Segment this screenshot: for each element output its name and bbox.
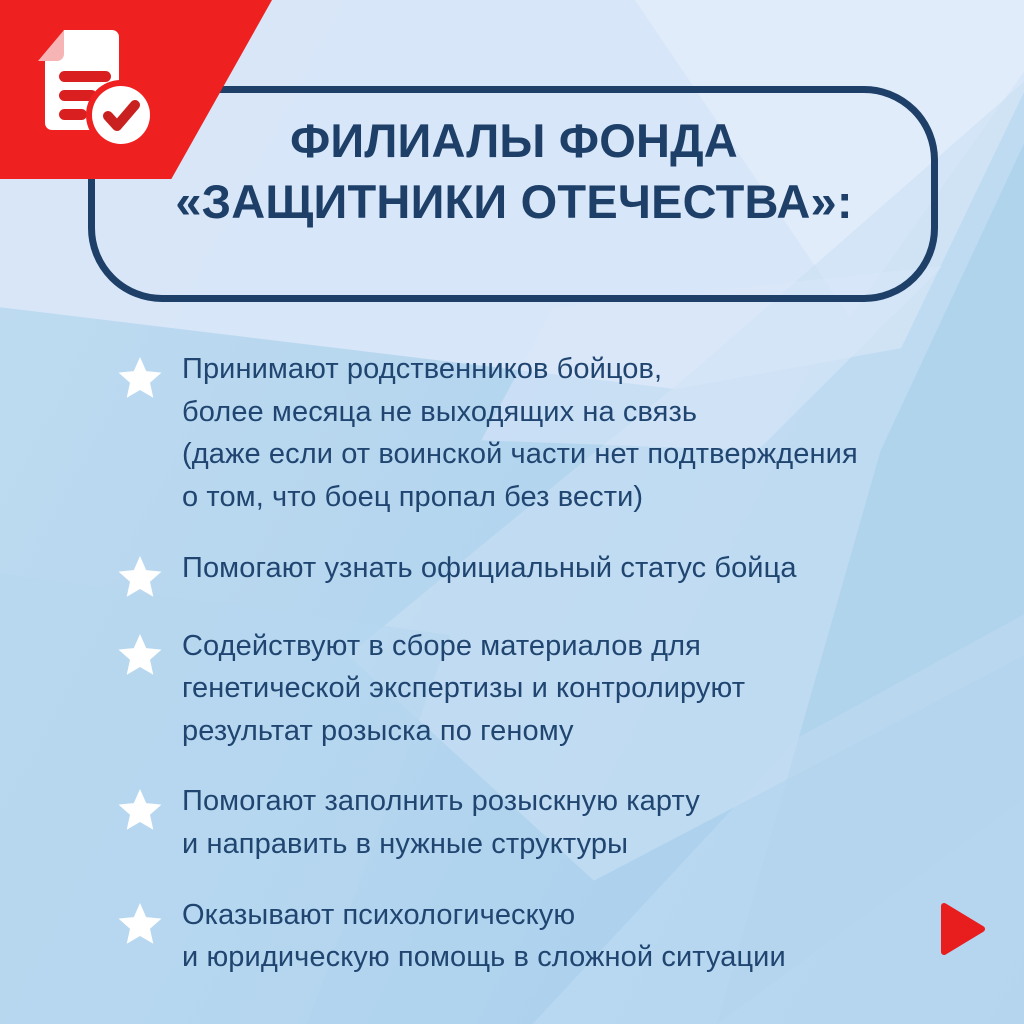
list-item-text: Принимают родственников бойцов, более ме… <box>182 348 858 519</box>
list-item: Помогают узнать официальный статус бойца <box>118 547 990 597</box>
list-item: Оказывают психологическую и юридическую … <box>118 894 990 979</box>
list-item: Принимают родственников бойцов, более ме… <box>118 348 990 519</box>
play-arrow-icon[interactable] <box>938 902 986 956</box>
benefits-list: Принимают родственников бойцов, более ме… <box>118 348 990 979</box>
infographic-poster: ФИЛИАЛЫ ФОНДА «ЗАЩИТНИКИ ОТЕЧЕСТВА»: При… <box>0 0 1024 1024</box>
star-icon <box>118 555 162 597</box>
list-item-text: Помогают узнать официальный статус бойца <box>182 547 797 590</box>
star-icon <box>118 902 162 944</box>
star-icon <box>118 356 162 398</box>
star-icon <box>118 633 162 675</box>
list-item: Содействуют в сборе материалов для генет… <box>118 625 990 753</box>
page-title-line-2: «ЗАЩИТНИКИ ОТЕЧЕСТВА»: <box>96 171 932 232</box>
star-icon <box>118 788 162 830</box>
list-item-text: Оказывают психологическую и юридическую … <box>182 894 786 979</box>
list-item-text: Помогают заполнить розыскную карту и нап… <box>182 780 700 865</box>
list-item-text: Содействуют в сборе материалов для генет… <box>182 625 745 753</box>
page-title-line-1: ФИЛИАЛЫ ФОНДА <box>96 110 932 171</box>
list-item: Помогают заполнить розыскную карту и нап… <box>118 780 990 865</box>
page-title: ФИЛИАЛЫ ФОНДА «ЗАЩИТНИКИ ОТЕЧЕСТВА»: <box>96 110 932 232</box>
